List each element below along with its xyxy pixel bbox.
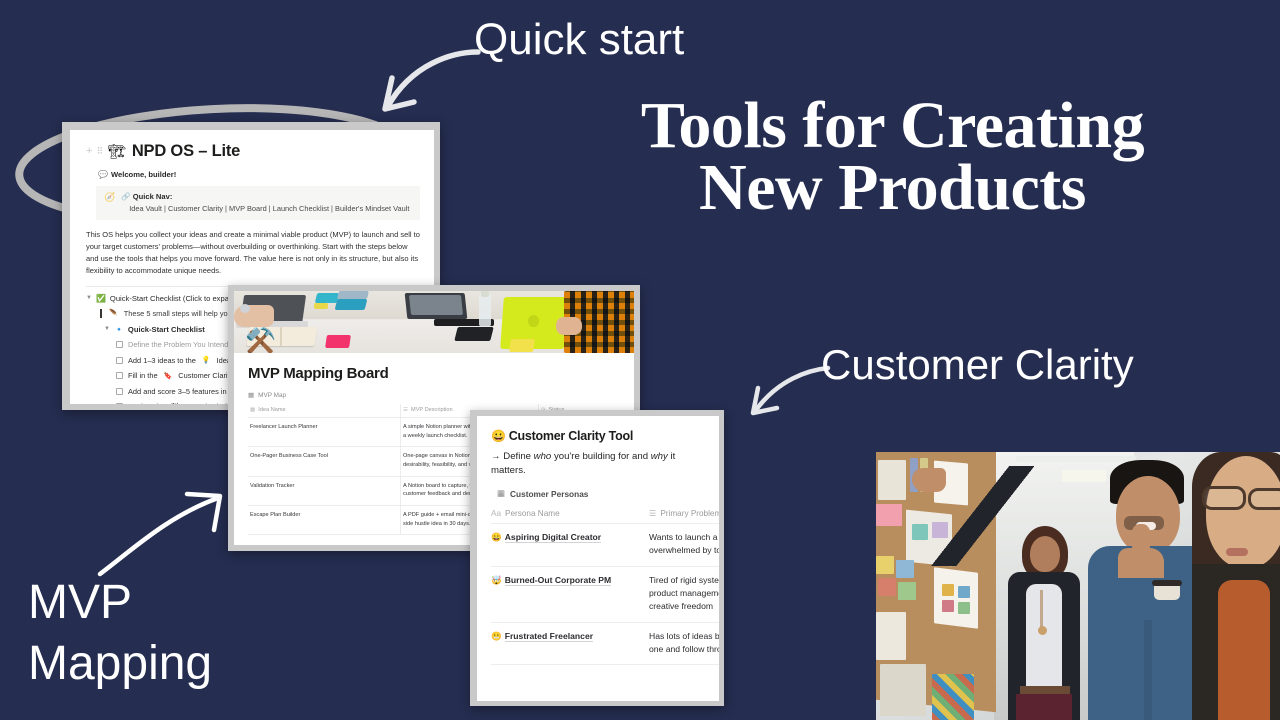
blue-diamond-icon: 🔹 bbox=[114, 325, 124, 334]
clarity-subtitle-a: Define bbox=[503, 451, 533, 462]
cell-idea-name: Freelancer Launch Planner bbox=[248, 418, 401, 447]
flag-icon: 🏁 bbox=[171, 403, 180, 404]
table-header-row: AaPersona Name ☰Primary Problem bbox=[491, 505, 719, 524]
cell-idea-name: One-Pager Business Case Tool bbox=[248, 447, 401, 476]
annotation-mvp-mapping: MVP Mapping bbox=[28, 572, 212, 695]
annotation-mvp-mapping-line-2: Mapping bbox=[28, 633, 212, 694]
grimacing-face-icon: 😬 bbox=[491, 631, 502, 641]
customer-clarity-tool-card[interactable]: 😀Customer Clarity Tool → Define who you'… bbox=[470, 410, 724, 706]
feather-icon: 🪶 bbox=[109, 309, 118, 318]
clarity-database-label[interactable]: ▦ Customer Personas bbox=[497, 488, 719, 499]
annotation-quick-start: Quick start bbox=[474, 18, 684, 62]
page-title-line-2: New Products bbox=[585, 157, 1200, 219]
table-row[interactable]: 😀Aspiring Digital Creator Wants to launc… bbox=[491, 524, 719, 567]
clarity-subtitle-who: who bbox=[534, 451, 552, 462]
quick-nav-links[interactable]: Idea Vault | Customer Clarity | MVP Boar… bbox=[129, 204, 412, 213]
npd-welcome-line: 💬Welcome, builder! bbox=[98, 170, 420, 179]
clarity-subtitle-why: why bbox=[651, 451, 668, 462]
mvp-mapping-arrow-icon bbox=[90, 488, 230, 578]
cell-idea-name: Validation Tracker bbox=[248, 476, 401, 505]
title-property-icon: Aa bbox=[491, 509, 501, 518]
hammer-and-wrench-icon: ⚒️ bbox=[245, 329, 276, 353]
exploding-head-icon: 🤯 bbox=[491, 575, 502, 585]
checkbox[interactable] bbox=[116, 403, 123, 404]
column-header-label: Persona Name bbox=[505, 509, 560, 518]
checkbox[interactable] bbox=[116, 341, 123, 348]
cell-persona-name: 😬Frustrated Freelancer bbox=[491, 622, 649, 665]
crane-icon: 🏗 bbox=[108, 143, 126, 160]
grinning-face-icon: 😀 bbox=[491, 429, 506, 443]
cell-primary-problem: Has lots of ideas but struggles to pick … bbox=[649, 622, 719, 665]
customer-clarity-arrow-icon bbox=[736, 358, 832, 424]
annotation-mvp-mapping-line-1: MVP bbox=[28, 572, 212, 633]
checkbox[interactable] bbox=[116, 388, 123, 395]
mvp-cover-photo: ⚒️ bbox=[234, 291, 634, 353]
quick-start-arrow-icon bbox=[352, 30, 482, 120]
table-icon: ▦ bbox=[248, 391, 254, 399]
cell-persona-name: 🤯Burned-Out Corporate PM bbox=[491, 567, 649, 623]
chevron-down-icon[interactable]: ▼ bbox=[104, 325, 110, 334]
clarity-subtitle: → Define who you're building for and why… bbox=[491, 450, 719, 477]
npd-intro-paragraph: This OS helps you collect your ideas and… bbox=[86, 229, 420, 278]
quick-start-checklist-subtoggle-label: Quick-Start Checklist bbox=[128, 325, 205, 334]
column-header-label: Idea Name bbox=[258, 407, 285, 413]
quick-nav-callout: 🧭 🔗Quick Nav: Idea Vault | Customer Clar… bbox=[96, 186, 420, 220]
link-icon: 🔗 bbox=[121, 192, 130, 201]
persona-name-text: Frustrated Freelancer bbox=[505, 631, 593, 642]
clarity-title-row: 😀Customer Clarity Tool bbox=[491, 429, 719, 443]
add-block-icon[interactable]: + bbox=[86, 146, 92, 157]
column-header-label: Primary Problem bbox=[660, 509, 719, 518]
text-property-icon: ☰ bbox=[403, 407, 408, 413]
table-row[interactable]: 🤯Burned-Out Corporate PM Tired of rigid … bbox=[491, 567, 719, 623]
column-header-label: MVP Description bbox=[411, 407, 453, 413]
npd-page-title: NPD OS – Lite bbox=[132, 142, 240, 161]
clarity-title: Customer Clarity Tool bbox=[509, 429, 633, 443]
cell-primary-problem: Tired of rigid systems, top-down product… bbox=[649, 567, 719, 623]
checklist-item-label: Review the bbox=[128, 402, 165, 404]
cell-primary-problem: Wants to launch a product but feels over… bbox=[649, 524, 719, 567]
cell-idea-name: Escape Plan Builder bbox=[248, 505, 401, 534]
quick-start-checklist-toggle-label: Quick-Start Checklist (Click to expand) bbox=[110, 294, 240, 303]
speech-bubble-icon: 💬 bbox=[98, 170, 108, 179]
chevron-down-icon[interactable]: ▼ bbox=[86, 294, 92, 303]
text-property-icon: ☰ bbox=[649, 509, 656, 518]
customer-personas-table[interactable]: AaPersona Name ☰Primary Problem 😀Aspirin… bbox=[491, 505, 719, 665]
clarity-database-name: Customer Personas bbox=[510, 489, 588, 499]
checklist-item-label: Fill in the bbox=[128, 371, 158, 380]
npd-welcome-text: Welcome, builder! bbox=[111, 170, 176, 179]
checklist-item-label: Add 1–3 ideas to the bbox=[128, 356, 196, 365]
column-header-idea-name[interactable]: ▩Idea Name bbox=[248, 404, 401, 418]
table-row[interactable]: 😬Frustrated Freelancer Has lots of ideas… bbox=[491, 622, 719, 665]
mvp-board-title: MVP Mapping Board bbox=[248, 365, 620, 382]
checkbox[interactable] bbox=[116, 357, 123, 364]
checkbox[interactable] bbox=[116, 372, 123, 379]
bookmark-icon: 🔖 bbox=[164, 372, 173, 380]
column-header-primary-problem[interactable]: ☰Primary Problem bbox=[649, 505, 719, 524]
cell-persona-name: 😀Aspiring Digital Creator bbox=[491, 524, 649, 567]
mvp-database-name: MVP Map bbox=[258, 392, 286, 399]
check-mark-icon: ✅ bbox=[96, 294, 106, 304]
npd-title-row: + ⠿ 🏗 NPD OS – Lite bbox=[86, 142, 420, 161]
persona-name-text: Aspiring Digital Creator bbox=[505, 532, 601, 543]
page-title: Tools for Creating New Products bbox=[585, 95, 1200, 219]
title-property-icon: ▩ bbox=[250, 407, 255, 413]
column-header-persona-name[interactable]: AaPersona Name bbox=[491, 505, 649, 524]
lightbulb-icon: 💡 bbox=[202, 356, 211, 364]
quick-nav-label: 🔗Quick Nav: bbox=[121, 192, 412, 201]
quick-nav-label-text: Quick Nav: bbox=[133, 192, 173, 201]
annotation-customer-clarity: Customer Clarity bbox=[821, 344, 1134, 386]
mvp-database-label[interactable]: ▦ MVP Map bbox=[248, 391, 620, 399]
drag-handle-icon[interactable]: ⠿ bbox=[96, 147, 101, 156]
table-icon: ▦ bbox=[497, 488, 505, 499]
compass-icon: 🧭 bbox=[104, 192, 115, 213]
arrow-right-icon: → bbox=[491, 451, 501, 462]
grinning-face-icon: 😀 bbox=[491, 532, 502, 542]
persona-name-text: Burned-Out Corporate PM bbox=[505, 575, 611, 586]
clarity-subtitle-b: you're building for and bbox=[551, 451, 650, 462]
team-collaboration-photo bbox=[876, 452, 1280, 720]
